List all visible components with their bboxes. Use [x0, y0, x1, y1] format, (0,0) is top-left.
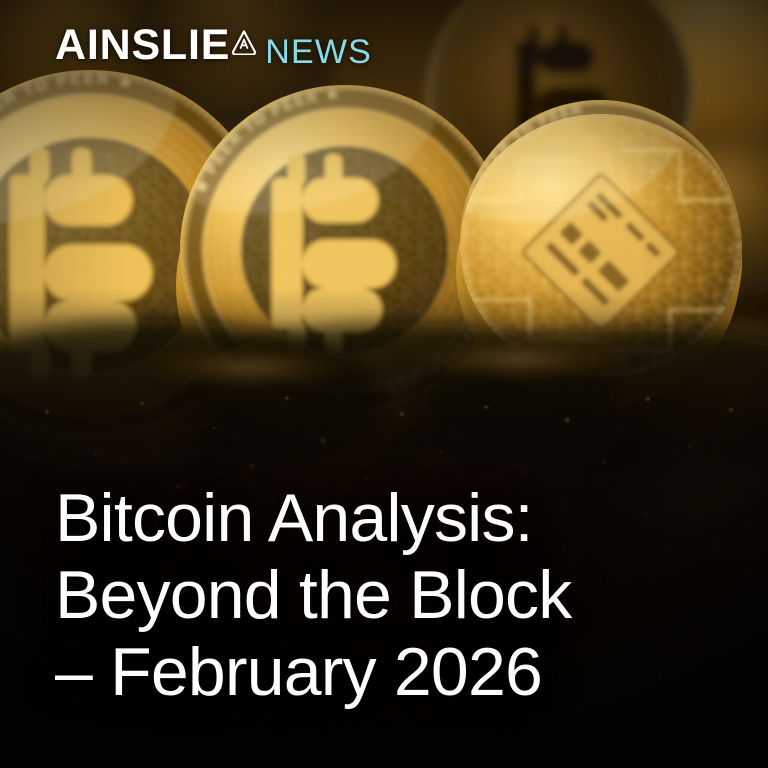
article-hero-card: ED ★ PEER TO PEER ★ DIGITAL CURRENCY — [0, 0, 768, 768]
page-title: Bitcoin Analysis: Beyond the Block – Feb… — [55, 480, 728, 711]
ainslie-news-logo[interactable]: AINSLIE NEWS — [55, 24, 372, 67]
title-line-3: – February 2026 — [55, 634, 728, 711]
brand-name: AINSLIE — [55, 24, 230, 67]
title-line-1: Bitcoin Analysis: — [55, 480, 728, 557]
triangle-a-logo-icon — [231, 29, 257, 55]
brand-section-label: NEWS — [265, 35, 372, 69]
title-line-2: Beyond the Block — [55, 557, 728, 634]
